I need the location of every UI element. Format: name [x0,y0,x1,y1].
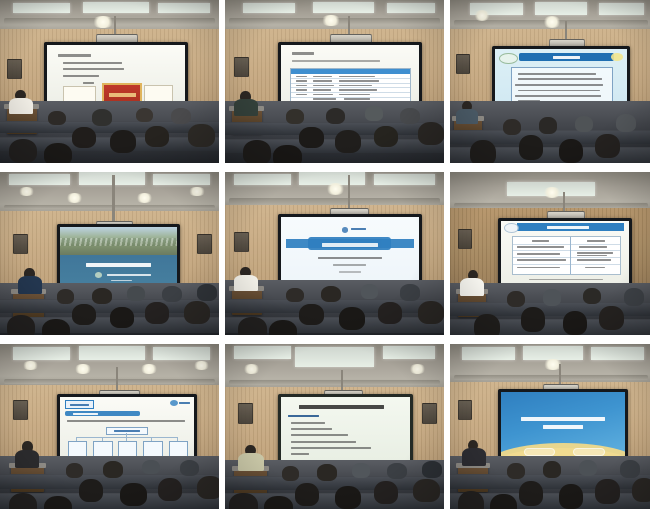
audience-head [470,140,496,163]
ceiling-panel [535,2,588,15]
audience-head [286,109,304,124]
audience-head [264,496,292,509]
ceiling-panel [313,2,374,13]
audience-head [474,314,500,335]
audience-head [624,288,644,306]
photo-cell-6[interactable]: Presenter at lectern; slide with blue he… [450,172,650,335]
ceiling-light [66,193,84,203]
photo-cell-2[interactable]: Presenter at lectern; slide showing a da… [225,0,444,163]
ceiling-panel [383,346,436,359]
audience-head [197,284,217,300]
audience-head [295,483,319,506]
institute-logo-icon [342,227,349,233]
slide-section-tag [65,400,94,409]
audience-head [44,143,72,163]
audience-head [519,135,543,159]
photo-cell-5[interactable]: Presenter at lectern; title slide with b… [225,172,444,335]
audience-head [238,317,266,335]
audience-head [579,460,597,477]
audience-head [326,108,346,124]
slide-9 [501,392,624,460]
audience-head [180,460,200,477]
projection-screen [57,394,197,467]
audience-head [361,284,379,299]
leaf-emblem-icon [611,53,623,61]
audience-head [339,307,365,330]
ceiling-panel [591,347,644,360]
audience-head [136,108,154,123]
slide-ribbon-center [308,237,391,250]
audience-head [507,463,525,480]
presenter-body [462,448,486,466]
wall-speaker-icon [234,57,249,77]
ceiling-panel [374,174,435,185]
audience-head [229,493,257,510]
audience-head [269,320,297,335]
audience-head [521,307,545,331]
ceiling-duct [4,379,214,384]
ceiling-panel [234,174,291,185]
presenter-body [460,278,484,296]
ceiling-panel [153,174,210,185]
wall-speaker-icon [238,403,253,423]
slide-7 [60,397,194,464]
projection-screen [278,394,414,463]
audience-head [335,130,361,153]
ceiling-duct [454,375,648,380]
institute-logo-icon [504,223,519,233]
audience-head [519,481,543,506]
slide-button [524,448,556,456]
ceiling-panel [13,3,70,13]
audience-head [142,460,160,475]
audience-head [158,478,182,501]
photo-cell-3[interactable]: Presenter at lectern; cyan slide with bl… [450,0,650,163]
audience-head [503,119,521,135]
audience-head [145,126,169,147]
audience-head [595,479,619,504]
audience-head [374,126,398,147]
audience-head [374,481,398,504]
projection-screen [278,214,423,289]
presenter-body [234,275,258,291]
audience-head [616,114,636,132]
audience-head [299,304,323,325]
audience-head [559,139,583,163]
audience-head [243,140,271,163]
photo-cell-7[interactable]: Presenter at lectern; slide with section… [0,344,219,509]
audience-head [282,466,300,481]
ceiling-panel [83,2,149,13]
audience-head [127,286,145,301]
audience-head [317,464,337,481]
ceiling-light [409,364,427,374]
projector-mount [112,175,115,224]
audience-head [92,288,112,304]
audience-head [57,289,75,304]
ceiling-light [543,187,561,198]
audience-head [273,145,301,163]
ceiling-duct [4,205,214,210]
circle-logo-icon [499,53,518,64]
audience-head [9,139,37,163]
chair-row [225,122,444,134]
audience-head [335,486,361,509]
audience-head [171,108,191,124]
audience-head [184,301,210,324]
ceiling-light [321,15,341,26]
ceiling-light [543,16,561,27]
wall-speaker-icon [458,400,472,420]
audience-head [145,302,169,323]
photo-cell-4[interactable]: Presenter at lectern; title slide with l… [0,172,219,335]
audience-head [286,288,304,303]
ceiling-panel [387,3,435,13]
audience-head [543,289,561,305]
slide-title-bar [519,53,614,61]
slide-5 [281,217,420,286]
ceiling-light [92,16,114,27]
slide-table [290,68,411,105]
audience-head [162,286,182,302]
ceiling-light [326,183,346,194]
audience-head [42,319,70,335]
audience-head [575,116,593,132]
audience-head [563,311,587,335]
audience-head [387,463,407,480]
slide-table [512,236,621,275]
audience-head [79,479,103,502]
audience-head [197,476,219,499]
presenter-body [234,99,258,115]
audience-head [7,315,35,335]
audience-head [418,301,444,324]
institute-logo-icon [170,400,178,406]
audience-head [400,108,420,124]
audience-head [559,484,583,509]
wall-speaker-icon [458,229,472,249]
audience-head [458,491,484,509]
presenter-body [9,98,33,114]
wall-speaker-icon [13,400,28,420]
audience-head [299,127,323,148]
slide-6 [501,221,628,288]
audience-head [365,106,383,121]
audience-head [418,122,444,145]
wall-speaker-icon [13,234,28,254]
projection-screen [498,218,631,291]
ceiling-panel [79,346,145,361]
ceiling-duct [229,380,439,385]
audience-head [543,461,561,478]
audience-head [103,461,123,478]
audience-head [507,291,525,307]
audience-head [400,284,420,300]
wall-speaker-icon [422,403,437,423]
slide-button [573,448,605,456]
audience-head [110,307,134,328]
audience-head [378,302,402,323]
slide-4 [60,227,177,289]
wall-speaker-icon [197,234,212,254]
audience-head [599,306,623,330]
ceiling-light [243,364,261,374]
wall-speaker-icon [7,59,22,79]
projector-mount [348,175,350,209]
ceiling-panel [153,347,210,360]
ceiling-panel [295,347,374,367]
audience-head [188,124,214,147]
audience-head [92,109,112,125]
audience-head [620,460,640,478]
audience-head [352,463,370,478]
ceiling-panel [9,174,70,185]
audience-head [595,134,619,158]
ceiling-panel [234,346,291,359]
slide-title-bar [517,223,624,231]
audience-head [422,461,442,478]
audience-head [413,479,439,502]
audience-head [539,117,557,133]
ceiling-panel [599,3,643,14]
audience-head [110,130,136,153]
slide-logo-icon [95,272,102,278]
wall-speaker-icon [234,232,249,252]
slide-banner-image [60,227,177,255]
presenter-body [238,453,264,471]
ceiling-light [136,193,154,203]
audience-head [48,111,66,126]
ceiling-light [74,364,92,374]
presenter-body [456,109,478,124]
audience-head [66,463,84,478]
ceiling-panel [158,3,211,13]
audience-head [72,304,96,325]
wall-speaker-icon [456,54,470,74]
photo-cell-8[interactable]: Presenter at lectern; white slide with a… [225,344,444,509]
audience-head [632,478,650,503]
slide-subhead [65,411,140,416]
ceiling-light [140,364,158,374]
slide-8 [281,397,411,460]
photo-cell-9[interactable]: Presenter at lectern; blue gradient titl… [450,344,650,509]
audience-head [72,127,96,148]
ceiling-panel [462,347,515,360]
ceiling-panel [243,3,296,13]
audience-head [321,286,341,302]
ceiling-panel [13,347,70,360]
photo-grid: Presenter at lectern; slide showing text… [0,0,650,510]
presenter-body [18,276,42,294]
audience-head [583,288,601,304]
audience-head [490,494,516,509]
projection-screen [498,389,627,463]
photo-cell-1[interactable]: Presenter at lectern; slide showing text… [0,0,219,163]
presenter-body [15,450,39,468]
audience-head [120,483,146,506]
